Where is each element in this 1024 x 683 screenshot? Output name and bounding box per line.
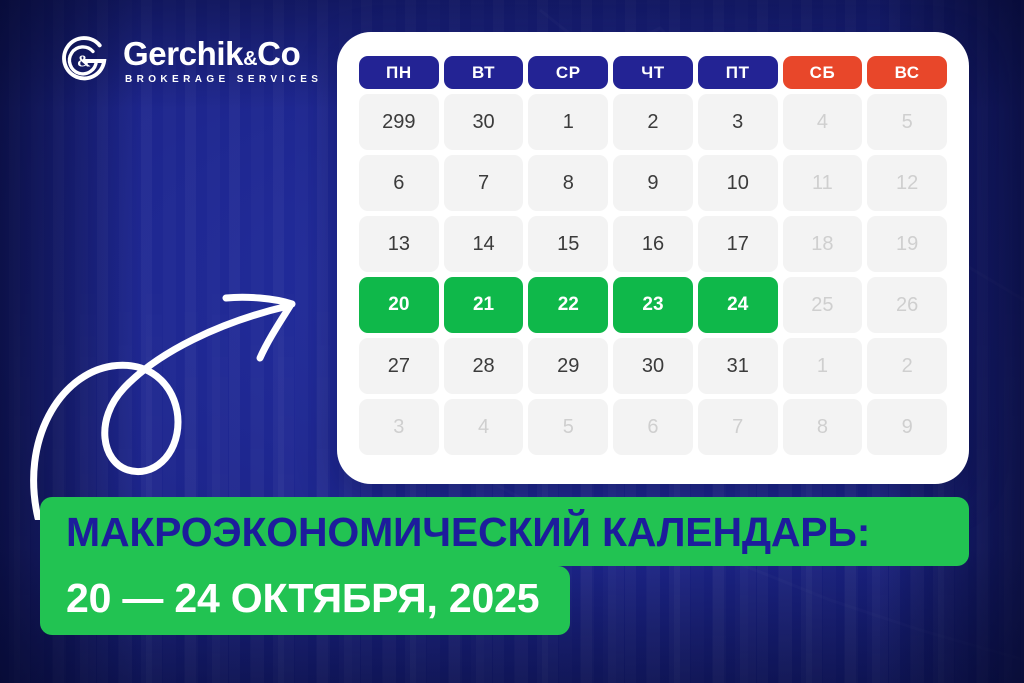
calendar-day-cell[interactable]: 5 — [528, 399, 608, 455]
calendar-week-row: 3456789 — [359, 399, 947, 455]
brand-name-part1: Gerchik — [123, 35, 243, 72]
brand-wordblock: Gerchik&Co BROKERAGE SERVICES — [123, 37, 322, 86]
calendar-day-cell[interactable]: 6 — [613, 399, 693, 455]
banner-title-line2: 20 — 24 ОКТЯБРЯ, 2025 — [40, 566, 570, 635]
calendar-day-cell[interactable]: 30 — [444, 94, 524, 150]
calendar-card: ПНВТСРЧТПТСБВС 2993012345678910111213141… — [337, 32, 969, 484]
calendar-day-cell[interactable]: 7 — [444, 155, 524, 211]
calendar-week-row: 2993012345 — [359, 94, 947, 150]
brand-logo: & Gerchik&Co BROKERAGE SERVICES — [56, 33, 322, 89]
calendar-day-cell[interactable]: 1 — [528, 94, 608, 150]
calendar-week-row: 13141516171819 — [359, 216, 947, 272]
calendar-day-cell[interactable]: 11 — [783, 155, 863, 211]
calendar-day-cell[interactable]: 2 — [867, 338, 947, 394]
calendar-day-cell-selected[interactable]: 22 — [528, 277, 608, 333]
calendar-day-cell[interactable]: 17 — [698, 216, 778, 272]
calendar-day-cell[interactable]: 12 — [867, 155, 947, 211]
calendar-day-cell[interactable]: 7 — [698, 399, 778, 455]
calendar-day-cell[interactable]: 16 — [613, 216, 693, 272]
calendar-day-cell[interactable]: 15 — [528, 216, 608, 272]
calendar-day-cell[interactable]: 6 — [359, 155, 439, 211]
calendar-day-cell[interactable]: 26 — [867, 277, 947, 333]
calendar-day-cell[interactable]: 8 — [783, 399, 863, 455]
calendar-day-header: ЧТ — [613, 56, 693, 89]
calendar-day-cell[interactable]: 9 — [867, 399, 947, 455]
calendar-week-row: 20212223242526 — [359, 277, 947, 333]
calendar-day-cell[interactable]: 27 — [359, 338, 439, 394]
calendar-day-cell[interactable]: 4 — [444, 399, 524, 455]
calendar-week-row: 272829303112 — [359, 338, 947, 394]
calendar-day-cell[interactable]: 3 — [359, 399, 439, 455]
hand-drawn-up-arrow-icon — [30, 270, 330, 520]
calendar-day-header: СР — [528, 56, 608, 89]
calendar-day-cell[interactable]: 31 — [698, 338, 778, 394]
calendar-day-cell-selected[interactable]: 21 — [444, 277, 524, 333]
calendar-day-header: СБ — [783, 56, 863, 89]
banner-title-line1: МАКРОЭКОНОМИЧЕСКИЙ КАЛЕНДАРЬ: — [40, 497, 969, 566]
calendar-day-cell[interactable]: 299 — [359, 94, 439, 150]
calendar-week-row: 6789101112 — [359, 155, 947, 211]
calendar-day-cell[interactable]: 19 — [867, 216, 947, 272]
calendar-day-cell-selected[interactable]: 24 — [698, 277, 778, 333]
title-banner: МАКРОЭКОНОМИЧЕСКИЙ КАЛЕНДАРЬ: 20 — 24 ОК… — [40, 497, 969, 635]
brand-wordmark: Gerchik&Co — [123, 37, 322, 71]
calendar-day-header: ВТ — [444, 56, 524, 89]
calendar-weeks: 2993012345678910111213141516171819202122… — [359, 94, 947, 455]
gerchik-circle-monogram-icon: & — [56, 33, 112, 89]
calendar-day-cell[interactable]: 18 — [783, 216, 863, 272]
calendar-day-header-row: ПНВТСРЧТПТСБВС — [359, 56, 947, 89]
calendar-day-cell-selected[interactable]: 23 — [613, 277, 693, 333]
calendar-day-cell[interactable]: 14 — [444, 216, 524, 272]
calendar-day-cell[interactable]: 29 — [528, 338, 608, 394]
poster-canvas: & Gerchik&Co BROKERAGE SERVICES ПНВТСРЧТ… — [0, 0, 1024, 683]
calendar-day-cell-selected[interactable]: 20 — [359, 277, 439, 333]
calendar-day-cell[interactable]: 28 — [444, 338, 524, 394]
calendar-day-header: ПТ — [698, 56, 778, 89]
brand-tagline: BROKERAGE SERVICES — [125, 74, 322, 85]
calendar-day-cell[interactable]: 13 — [359, 216, 439, 272]
calendar-day-cell[interactable]: 9 — [613, 155, 693, 211]
calendar-day-cell[interactable]: 3 — [698, 94, 778, 150]
brand-ampersand: & — [243, 48, 257, 70]
calendar-day-header: ПН — [359, 56, 439, 89]
calendar-day-cell[interactable]: 30 — [613, 338, 693, 394]
svg-text:&: & — [77, 52, 91, 71]
calendar-day-cell[interactable]: 1 — [783, 338, 863, 394]
calendar-day-cell[interactable]: 5 — [867, 94, 947, 150]
calendar-day-cell[interactable]: 4 — [783, 94, 863, 150]
calendar-day-header: ВС — [867, 56, 947, 89]
calendar-day-cell[interactable]: 10 — [698, 155, 778, 211]
brand-name-part2: Co — [257, 35, 300, 72]
calendar-day-cell[interactable]: 8 — [528, 155, 608, 211]
calendar-day-cell[interactable]: 25 — [783, 277, 863, 333]
calendar-day-cell[interactable]: 2 — [613, 94, 693, 150]
